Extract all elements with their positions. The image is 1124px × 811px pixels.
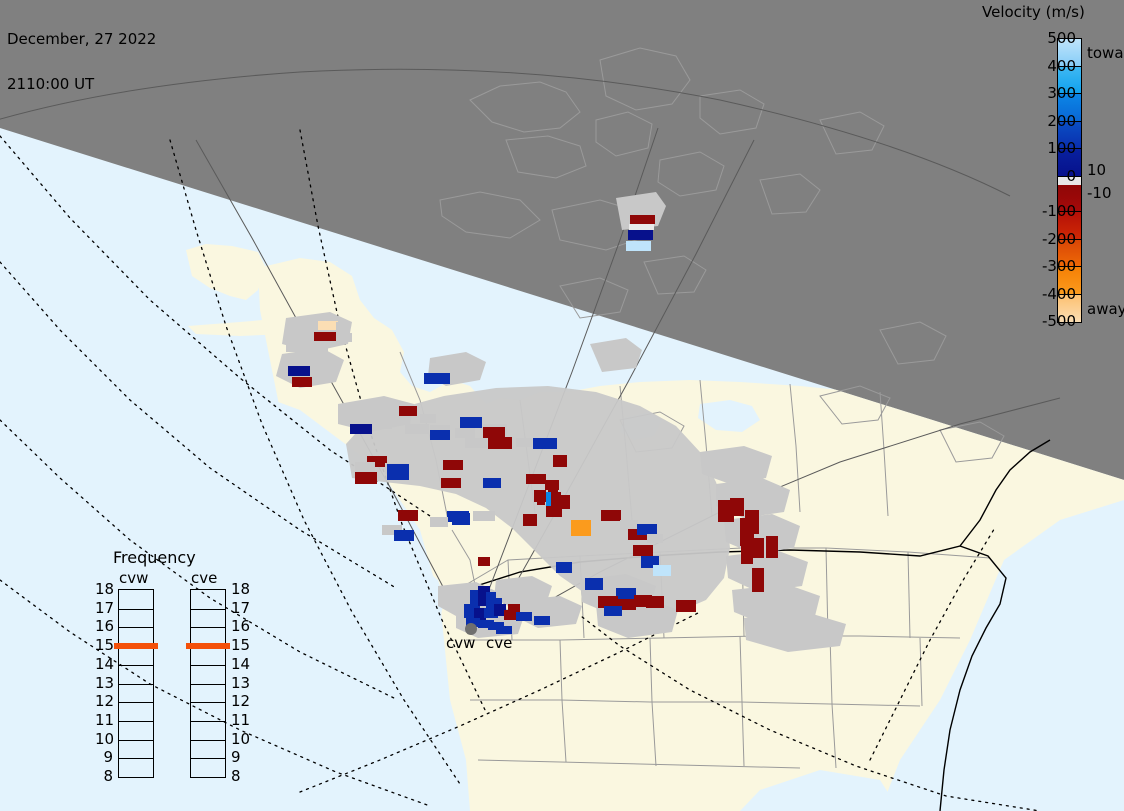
velocity-colorbar-panel: Velocity (m/s) 5004003002001000-100-200-… — [975, 0, 1124, 340]
frequency-tick-cvw: 10 — [95, 730, 113, 748]
frequency-tick-cve: 13 — [231, 674, 250, 692]
frequency-gauge-division — [119, 758, 153, 759]
colorbar-negative-threshold: -10 — [1087, 184, 1112, 202]
colorbar-away-label: away — [1087, 300, 1124, 318]
frequency-gauge-division — [191, 721, 225, 722]
frequency-gauge-division — [119, 740, 153, 741]
frequency-gauge-division — [191, 702, 225, 703]
frequency-marker-cvw — [114, 643, 158, 649]
frequency-gauge-division — [119, 721, 153, 722]
colorbar-tick: -400 — [1042, 285, 1076, 303]
site-label-cvw: cvw — [446, 634, 475, 652]
frequency-tick-cve: 11 — [231, 711, 250, 729]
frequency-tick-cvw: 18 — [95, 580, 113, 598]
frequency-gauge-division — [119, 702, 153, 703]
frequency-gauge-division — [191, 740, 225, 741]
frequency-legend-panel: Frequency cvw cve 18171615141312111098 1… — [95, 548, 245, 783]
colorbar-toward-label: toward — [1087, 44, 1124, 62]
radar-map-canvas: December, 27 2022 2110:00 UT cvw cve Vel… — [0, 0, 1124, 811]
frequency-gauge-division — [119, 684, 153, 685]
site-label-cve: cve — [486, 634, 512, 652]
frequency-gauge-division — [191, 665, 225, 666]
frequency-tick-cvw: 12 — [95, 692, 113, 710]
frequency-gauge-division — [119, 665, 153, 666]
frequency-tick-cve: 17 — [231, 599, 250, 617]
colorbar-tick: -200 — [1042, 230, 1076, 248]
frequency-tick-cve: 16 — [231, 617, 250, 635]
frequency-tick-cve: 14 — [231, 655, 250, 673]
frequency-gauge-division — [119, 627, 153, 628]
colorbar-tick: -300 — [1042, 257, 1076, 275]
colorbar-tick: 500 — [1047, 29, 1076, 47]
colorbar-tick: 100 — [1047, 139, 1076, 157]
frequency-tick-cve: 12 — [231, 692, 250, 710]
frequency-tick-cvw: 17 — [95, 599, 113, 617]
colorbar-tick: -500 — [1042, 312, 1076, 330]
frequency-tick-cvw: 11 — [95, 711, 113, 729]
frequency-tick-cvw: 8 — [95, 767, 113, 785]
colorbar-tick: 200 — [1047, 112, 1076, 130]
frequency-title: Frequency — [113, 548, 196, 567]
colorbar-positive-threshold: 10 — [1087, 161, 1106, 179]
frequency-gauge-cvw — [118, 589, 154, 778]
frequency-gauge-division — [191, 758, 225, 759]
colorbar-tick: -100 — [1042, 202, 1076, 220]
frequency-tick-cvw: 15 — [95, 636, 113, 654]
colorbar-title: Velocity (m/s) — [982, 3, 1124, 21]
frequency-marker-cve — [186, 643, 230, 649]
frequency-tick-cvw: 13 — [95, 674, 113, 692]
frequency-tick-cve: 18 — [231, 580, 250, 598]
frequency-tick-cvw: 9 — [95, 748, 113, 766]
colorbar-tick: 400 — [1047, 57, 1076, 75]
frequency-gauge-division — [191, 627, 225, 628]
frequency-tick-cve: 10 — [231, 730, 250, 748]
frequency-tick-cve: 8 — [231, 767, 241, 785]
frequency-gauge-cve — [190, 589, 226, 778]
frequency-radar-name-cve: cve — [191, 569, 217, 587]
frequency-gauge-division — [191, 609, 225, 610]
frequency-tick-cve: 15 — [231, 636, 250, 654]
frequency-tick-cvw: 16 — [95, 617, 113, 635]
colorbar-tick: 300 — [1047, 84, 1076, 102]
frequency-radar-name-cvw: cvw — [119, 569, 148, 587]
frequency-gauge-division — [119, 609, 153, 610]
colorbar-tick: 0 — [1066, 167, 1076, 185]
frequency-tick-cvw: 14 — [95, 655, 113, 673]
frequency-tick-cve: 9 — [231, 748, 241, 766]
frequency-gauge-division — [191, 684, 225, 685]
